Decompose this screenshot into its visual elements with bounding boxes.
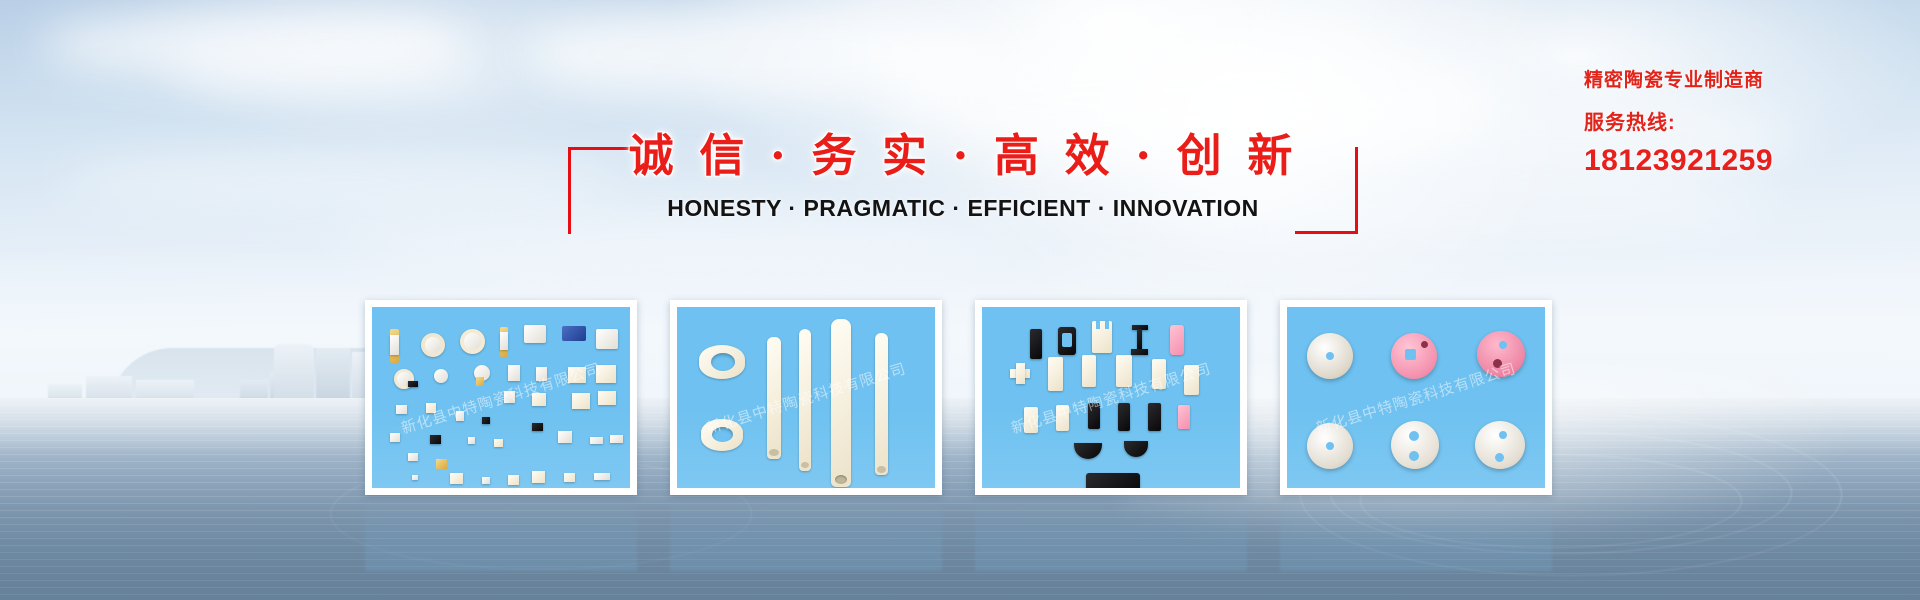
slogan-english: HONESTY · PRAGMATIC · EFFICIENT · INNOVA… bbox=[568, 195, 1358, 222]
ceramic-part bbox=[1137, 329, 1142, 349]
ceramic-tube bbox=[831, 319, 851, 487]
ceramic-part bbox=[426, 403, 436, 413]
product-panel-ceramic-blocks-and-blades[interactable]: 新化县中特陶瓷科技有限公司 bbox=[975, 300, 1247, 495]
product-panel-ceramic-tubes-and-rings[interactable]: 新化县中特陶瓷科技有限公司 bbox=[670, 300, 942, 495]
tube-bore bbox=[801, 462, 809, 468]
ceramic-part bbox=[508, 365, 520, 381]
disc-hole bbox=[1326, 352, 1334, 360]
ceramic-block bbox=[1082, 355, 1096, 387]
ceramic-part bbox=[596, 329, 618, 349]
ring-bore bbox=[711, 353, 735, 371]
ceramic-part bbox=[500, 332, 508, 350]
product-panel-smd-ceramic-components[interactable]: 新化县中特陶瓷科技有限公司 bbox=[365, 300, 637, 495]
ceramic-part bbox=[532, 423, 543, 431]
tube-bore bbox=[835, 475, 847, 484]
ceramic-part bbox=[412, 475, 418, 480]
part-slot bbox=[1096, 321, 1100, 329]
ceramic-base bbox=[1086, 473, 1140, 488]
ceramic-tube bbox=[767, 337, 781, 459]
ceramic-block bbox=[1184, 365, 1199, 395]
ceramic-part bbox=[508, 475, 519, 485]
product-photo: 新化县中特陶瓷科技有限公司 bbox=[982, 307, 1240, 488]
ceramic-part bbox=[572, 393, 590, 409]
ring-bore bbox=[712, 427, 733, 442]
ceramic-part bbox=[532, 471, 545, 483]
tube-bore bbox=[769, 449, 779, 456]
ceramic-part bbox=[396, 405, 407, 414]
ceramic-arc bbox=[1074, 443, 1102, 459]
cloud bbox=[60, 150, 620, 210]
disc-hole bbox=[1421, 341, 1428, 348]
disc-hole bbox=[1409, 431, 1419, 441]
ceramic-block bbox=[1152, 359, 1166, 389]
cap-hole bbox=[1495, 453, 1504, 462]
hotline-number[interactable]: 18123921259 bbox=[1584, 142, 1844, 180]
slogan-chinese: 诚 信 · 务 实 · 高 效 · 创 新 bbox=[568, 125, 1358, 187]
ceramic-ring bbox=[421, 333, 445, 357]
ceramic-part bbox=[430, 435, 441, 444]
ceramic-part bbox=[598, 391, 616, 405]
ceramic-part bbox=[456, 411, 464, 421]
tube-bore bbox=[877, 466, 886, 473]
ceramic-part bbox=[564, 473, 575, 482]
ceramic-part bbox=[390, 433, 400, 442]
company-tagline: 精密陶瓷专业制造商 bbox=[1584, 68, 1844, 94]
ceramic-part bbox=[408, 453, 418, 461]
ceramic-part bbox=[1131, 349, 1148, 355]
ceramic-part bbox=[476, 377, 484, 386]
ceramic-block bbox=[1178, 405, 1190, 429]
ceramic-disc bbox=[1391, 421, 1439, 469]
ceramic-part bbox=[468, 437, 475, 444]
part-cutout bbox=[1062, 333, 1072, 347]
ceramic-part bbox=[482, 477, 490, 484]
ceramic-cap bbox=[1477, 331, 1525, 377]
ceramic-cross bbox=[1016, 363, 1025, 384]
ceramic-part bbox=[1170, 325, 1184, 355]
ceramic-tube bbox=[799, 329, 811, 471]
contact-block: 精密陶瓷专业制造商 服务热线: 18123921259 bbox=[1584, 68, 1844, 180]
cap-hole bbox=[1499, 341, 1507, 349]
ceramic-part bbox=[610, 435, 623, 443]
ceramic-part bbox=[450, 473, 463, 484]
ceramic-part bbox=[590, 437, 603, 444]
ceramic-part bbox=[390, 335, 399, 355]
ceramic-block bbox=[1088, 403, 1100, 429]
ceramic-block bbox=[1048, 357, 1063, 391]
product-gallery: 新化县中特陶瓷科技有限公司 新化县中特陶瓷科技有限公司 bbox=[365, 300, 1585, 495]
ceramic-part bbox=[436, 459, 447, 469]
ceramic-part bbox=[532, 393, 546, 406]
promotional-banner: 诚 信 · 务 实 · 高 效 · 创 新 HONESTY · PRAGMATI… bbox=[0, 0, 1920, 600]
part-slot bbox=[1105, 321, 1109, 329]
ceramic-block bbox=[1118, 403, 1130, 431]
ceramic-part bbox=[1030, 329, 1042, 359]
ceramic-part bbox=[568, 367, 586, 383]
ceramic-block bbox=[1148, 403, 1161, 431]
ceramic-block bbox=[1056, 405, 1069, 431]
cap-hole bbox=[1499, 431, 1507, 439]
product-photo: 新化县中特陶瓷科技有限公司 bbox=[372, 307, 630, 488]
cap-hole bbox=[1493, 359, 1502, 368]
ceramic-ring bbox=[460, 329, 485, 354]
ceramic-part bbox=[482, 417, 490, 424]
ceramic-part bbox=[1092, 321, 1112, 353]
ceramic-part bbox=[562, 326, 586, 341]
disc-hole bbox=[1409, 451, 1419, 461]
ceramic-arc bbox=[1124, 441, 1148, 457]
hotline-label: 服务热线: bbox=[1584, 110, 1844, 136]
product-photo: 新化县中特陶瓷科技有限公司 bbox=[677, 307, 935, 488]
product-panel-ceramic-discs-and-caps[interactable]: 新化县中特陶瓷科技有限公司 bbox=[1280, 300, 1552, 495]
ceramic-tube bbox=[875, 333, 888, 475]
cloud bbox=[170, 46, 500, 98]
ceramic-part bbox=[494, 439, 503, 447]
ceramic-part bbox=[524, 325, 546, 343]
ceramic-part bbox=[536, 367, 547, 381]
slogan-block: 诚 信 · 务 实 · 高 效 · 创 新 HONESTY · PRAGMATI… bbox=[568, 125, 1358, 235]
ceramic-part bbox=[594, 473, 610, 480]
ceramic-part bbox=[434, 369, 448, 383]
disc-hole bbox=[1405, 349, 1416, 360]
ceramic-part bbox=[504, 391, 515, 403]
ceramic-block bbox=[1024, 407, 1038, 433]
ceramic-part bbox=[596, 365, 616, 383]
ceramic-block bbox=[1116, 355, 1132, 387]
ceramic-part bbox=[408, 381, 418, 387]
ceramic-part bbox=[558, 431, 572, 443]
disc-hole bbox=[1326, 442, 1334, 450]
product-photo: 新化县中特陶瓷科技有限公司 bbox=[1287, 307, 1545, 488]
reflection-veil bbox=[0, 497, 1920, 600]
